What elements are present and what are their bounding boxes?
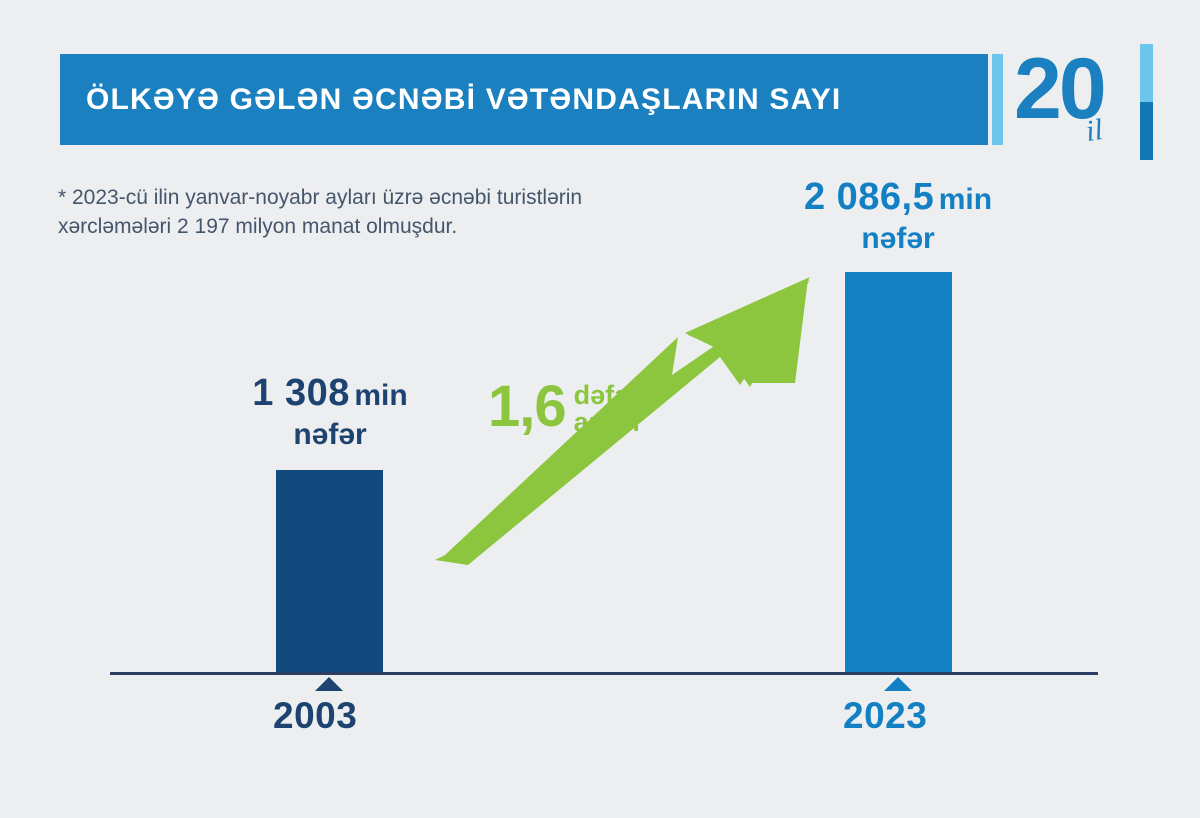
value-2023-number: 2 086,5 [804, 176, 934, 218]
x-axis-line [110, 672, 1098, 675]
value-2023-unit: min [939, 183, 992, 216]
growth-annotation: 1,6 dəfə artım [488, 378, 718, 436]
tick-marker-2023 [884, 677, 912, 691]
bar-2023 [845, 272, 952, 673]
value-2003-number: 1 308 [252, 372, 350, 414]
value-label-2023: 2 086,5 min nəfər [748, 176, 1048, 256]
growth-factor-value: 1,6 [488, 378, 566, 436]
x-tick-label-2023: 2023 [843, 695, 927, 737]
bar-chart: 1 308 min nəfər 2 086,5 min nəfər 1,6 də… [0, 0, 1200, 818]
bar-2003 [276, 470, 383, 673]
x-tick-label-2003: 2003 [273, 695, 357, 737]
tick-marker-2003 [315, 677, 343, 691]
value-2003-unit: min [354, 379, 407, 412]
value-2023-unit-sub: nəfər [748, 222, 1048, 256]
